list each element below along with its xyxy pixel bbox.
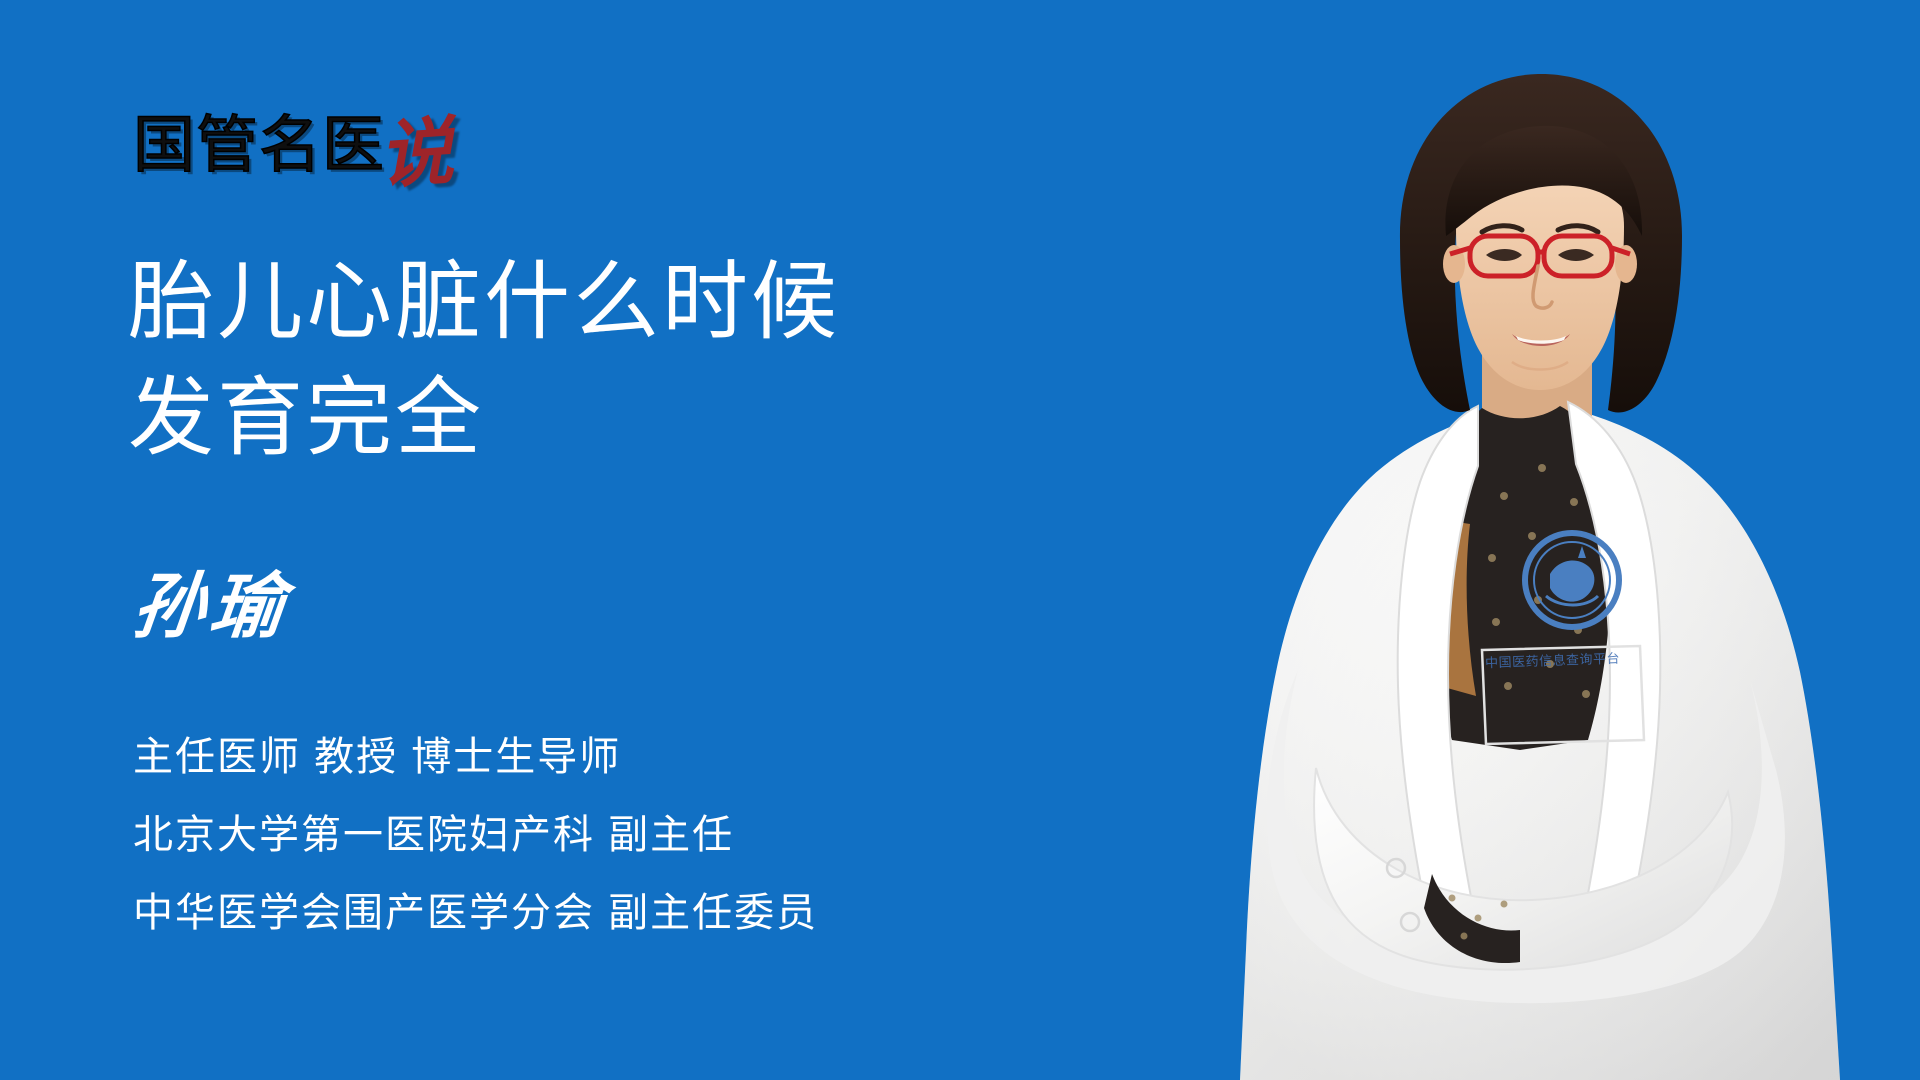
headline-line-1: 胎儿心脏什么时候 <box>128 244 1128 360</box>
brand-logo: 国管名医 说 <box>133 92 453 176</box>
headline-line-2: 发育完全 <box>128 360 1128 476</box>
left-text-panel: 国管名医 说 胎儿心脏什么时候 发育完全 孙瑜 主任医师 教授 博士生导师 北京… <box>0 0 1150 1080</box>
doctor-portrait-image <box>1220 50 1860 1080</box>
head <box>1400 74 1682 413</box>
credential-line-2: 北京大学第一医院妇产科 副主任 <box>133 796 1093 874</box>
brand-logo-main-text: 国管名医 <box>133 114 385 176</box>
credential-line-1: 主任医师 教授 博士生导师 <box>133 718 1093 796</box>
credential-line-3: 中华医学会围产医学分会 副主任委员 <box>133 874 1093 952</box>
doctor-credentials: 主任医师 教授 博士生导师 北京大学第一医院妇产科 副主任 中华医学会围产医学分… <box>133 718 1093 952</box>
headline-title: 胎儿心脏什么时候 发育完全 <box>128 244 1128 476</box>
doctor-name: 孙瑜 <box>129 570 293 642</box>
brand-logo-accent-text: 说 <box>377 121 455 189</box>
